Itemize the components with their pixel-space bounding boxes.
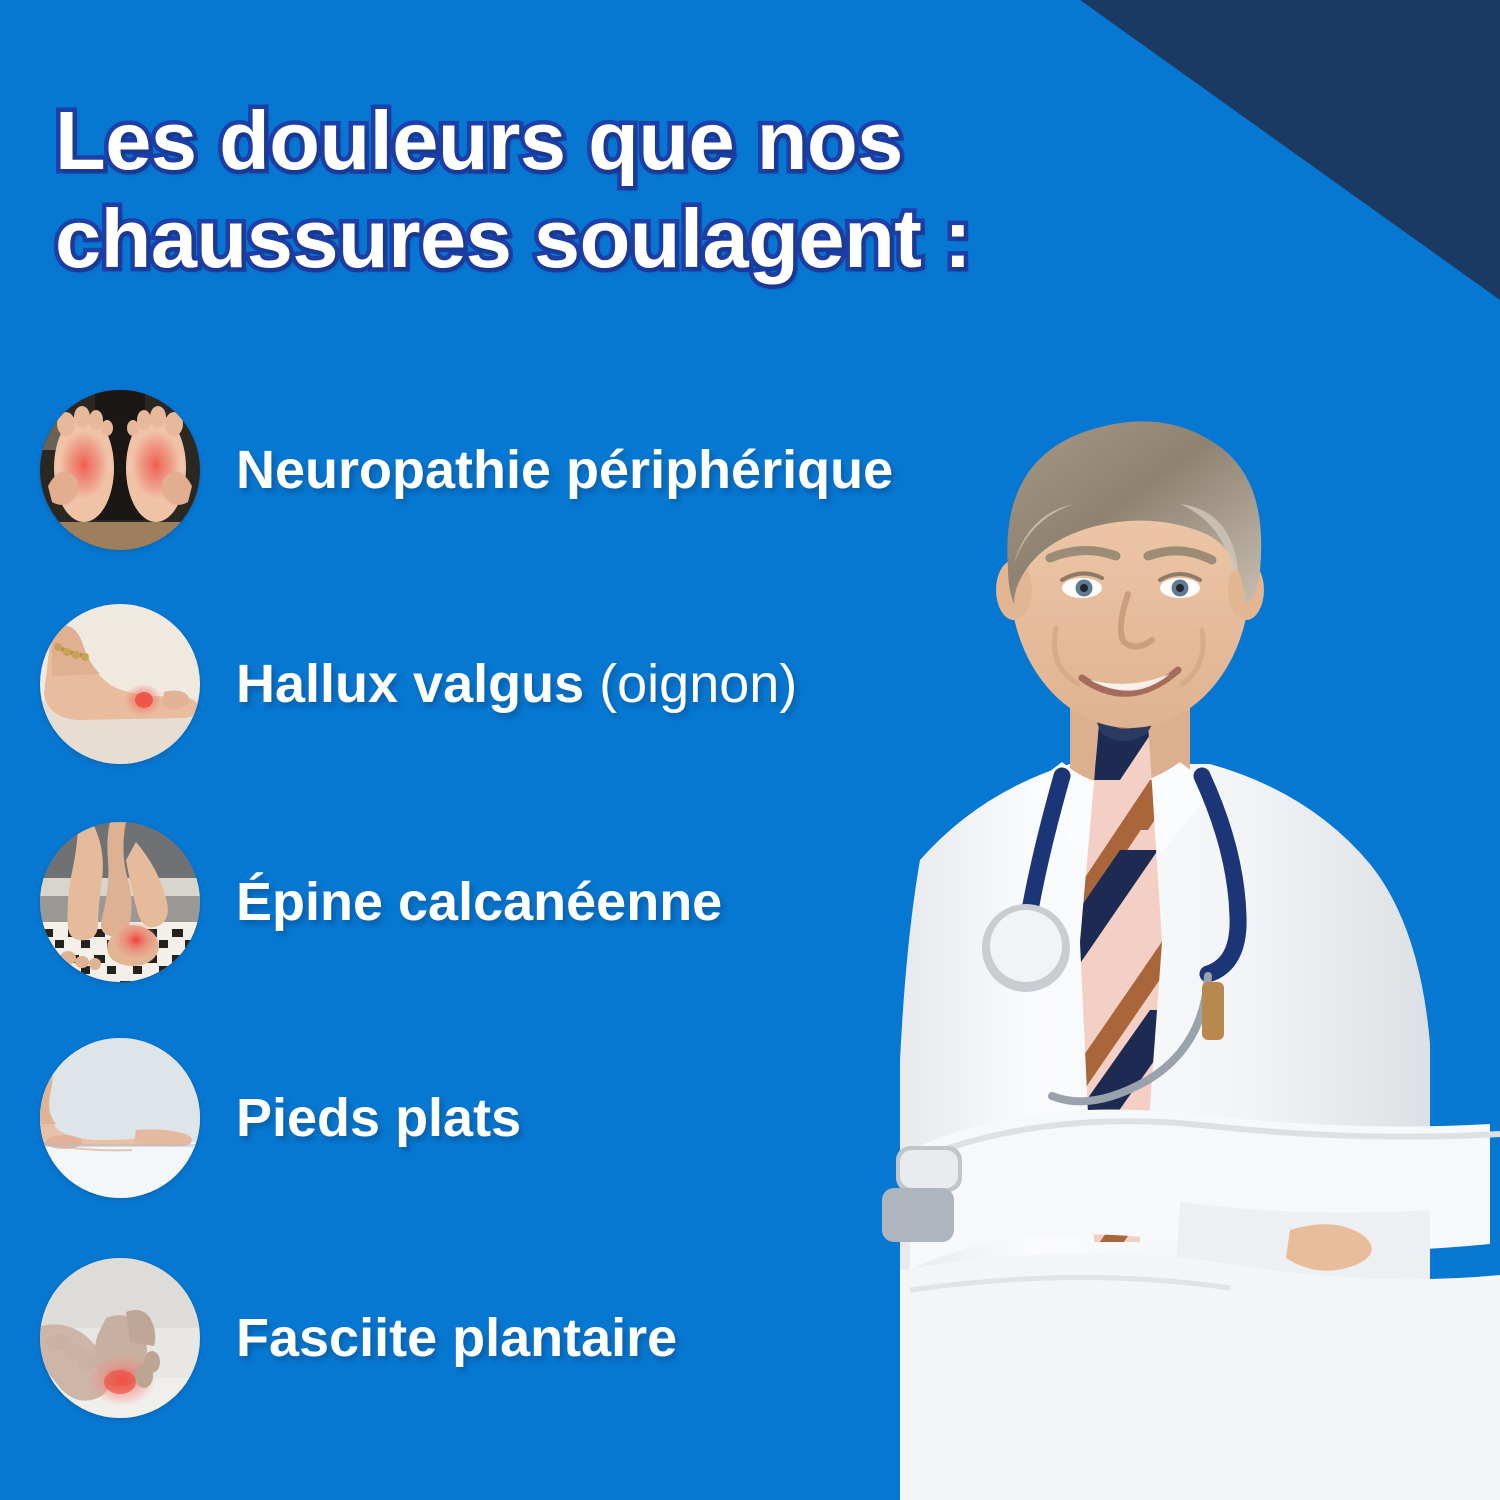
- condition-thumbnail-heel-spur: [40, 822, 200, 982]
- condition-thumbnail-flat-feet: [40, 1038, 200, 1198]
- condition-thumbnail-plantar-fasciitis: [40, 1258, 200, 1418]
- headline-line-2: chaussures soulagent :: [55, 190, 1165, 288]
- headline-line-1: Les douleurs que nos: [55, 92, 1165, 190]
- condition-thumbnail-neuropathy: [40, 390, 200, 550]
- condition-label-main: Pieds plats: [236, 1088, 521, 1148]
- condition-label-main: Fasciite plantaire: [236, 1308, 677, 1368]
- list-item: Épine calcanéenne: [40, 812, 722, 992]
- list-item: Fasciite plantaire: [40, 1248, 677, 1428]
- page-title: Les douleurs que nos chaussures soulagen…: [55, 92, 1165, 288]
- list-item: Hallux valgus (oignon): [40, 594, 797, 774]
- condition-label-sub: (oignon): [599, 654, 797, 714]
- list-item: Neuropathie périphérique: [40, 380, 893, 560]
- condition-label-main: Neuropathie périphérique: [236, 440, 893, 500]
- condition-label-main: Épine calcanéenne: [236, 872, 722, 932]
- condition-label: Fasciite plantaire: [236, 1311, 677, 1365]
- condition-label-main: Hallux valgus: [236, 654, 584, 714]
- condition-thumbnail-hallux-valgus: [40, 604, 200, 764]
- condition-label: Neuropathie périphérique: [236, 443, 893, 497]
- condition-label: Hallux valgus (oignon): [236, 657, 797, 711]
- condition-label: Pieds plats: [236, 1091, 521, 1145]
- promo-poster: Les douleurs que nos chaussures soulagen…: [0, 0, 1500, 1500]
- condition-label: Épine calcanéenne: [236, 875, 722, 929]
- list-item: Pieds plats: [40, 1028, 521, 1208]
